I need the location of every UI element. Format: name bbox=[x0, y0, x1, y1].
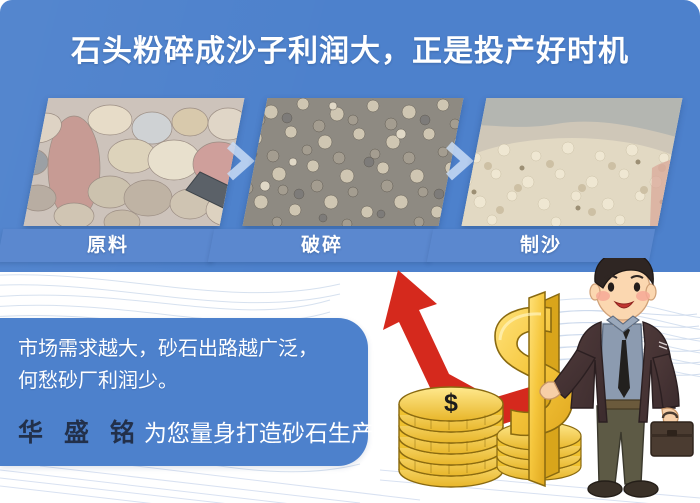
promo-panel: 市场需求越大，砂石出路越广泛， 何愁砂厂利润少。 华 盛 铭为您量身打造砂石生产… bbox=[0, 318, 368, 466]
crushed-gravel-photo bbox=[243, 98, 464, 226]
process-step-1[interactable]: 原料 bbox=[36, 98, 232, 226]
process-step-3[interactable]: 制沙 bbox=[474, 98, 670, 226]
business-growth-illustration: $ $ bbox=[345, 258, 700, 503]
manufactured-sand-photo bbox=[462, 98, 683, 226]
poster-canvas: 石头粉碎成沙子利润大，正是投产好时机 bbox=[0, 0, 700, 503]
step-label-1: 原料 bbox=[0, 229, 219, 262]
promo-line-1: 市场需求越大，砂石出路越广泛， bbox=[18, 332, 318, 361]
brand-row: 华 盛 铭为您量身打造砂石生产线 bbox=[18, 413, 397, 449]
brand-name: 华 盛 铭 bbox=[18, 419, 142, 447]
process-step-2[interactable]: 破碎 bbox=[255, 98, 451, 226]
page-title: 石头粉碎成沙子利润大，正是投产好时机 bbox=[0, 26, 700, 70]
svg-text:$: $ bbox=[444, 389, 458, 417]
river-pebbles-photo bbox=[24, 98, 245, 226]
step-label-1-text: 原料 bbox=[0, 229, 216, 262]
brand-tagline: 为您量身打造砂石生产线 bbox=[144, 420, 397, 446]
promo-line-2: 何愁砂厂利润少。 bbox=[18, 364, 178, 393]
coin-stack-icon: $ bbox=[399, 387, 503, 487]
process-steps: 原料 bbox=[0, 98, 700, 273]
